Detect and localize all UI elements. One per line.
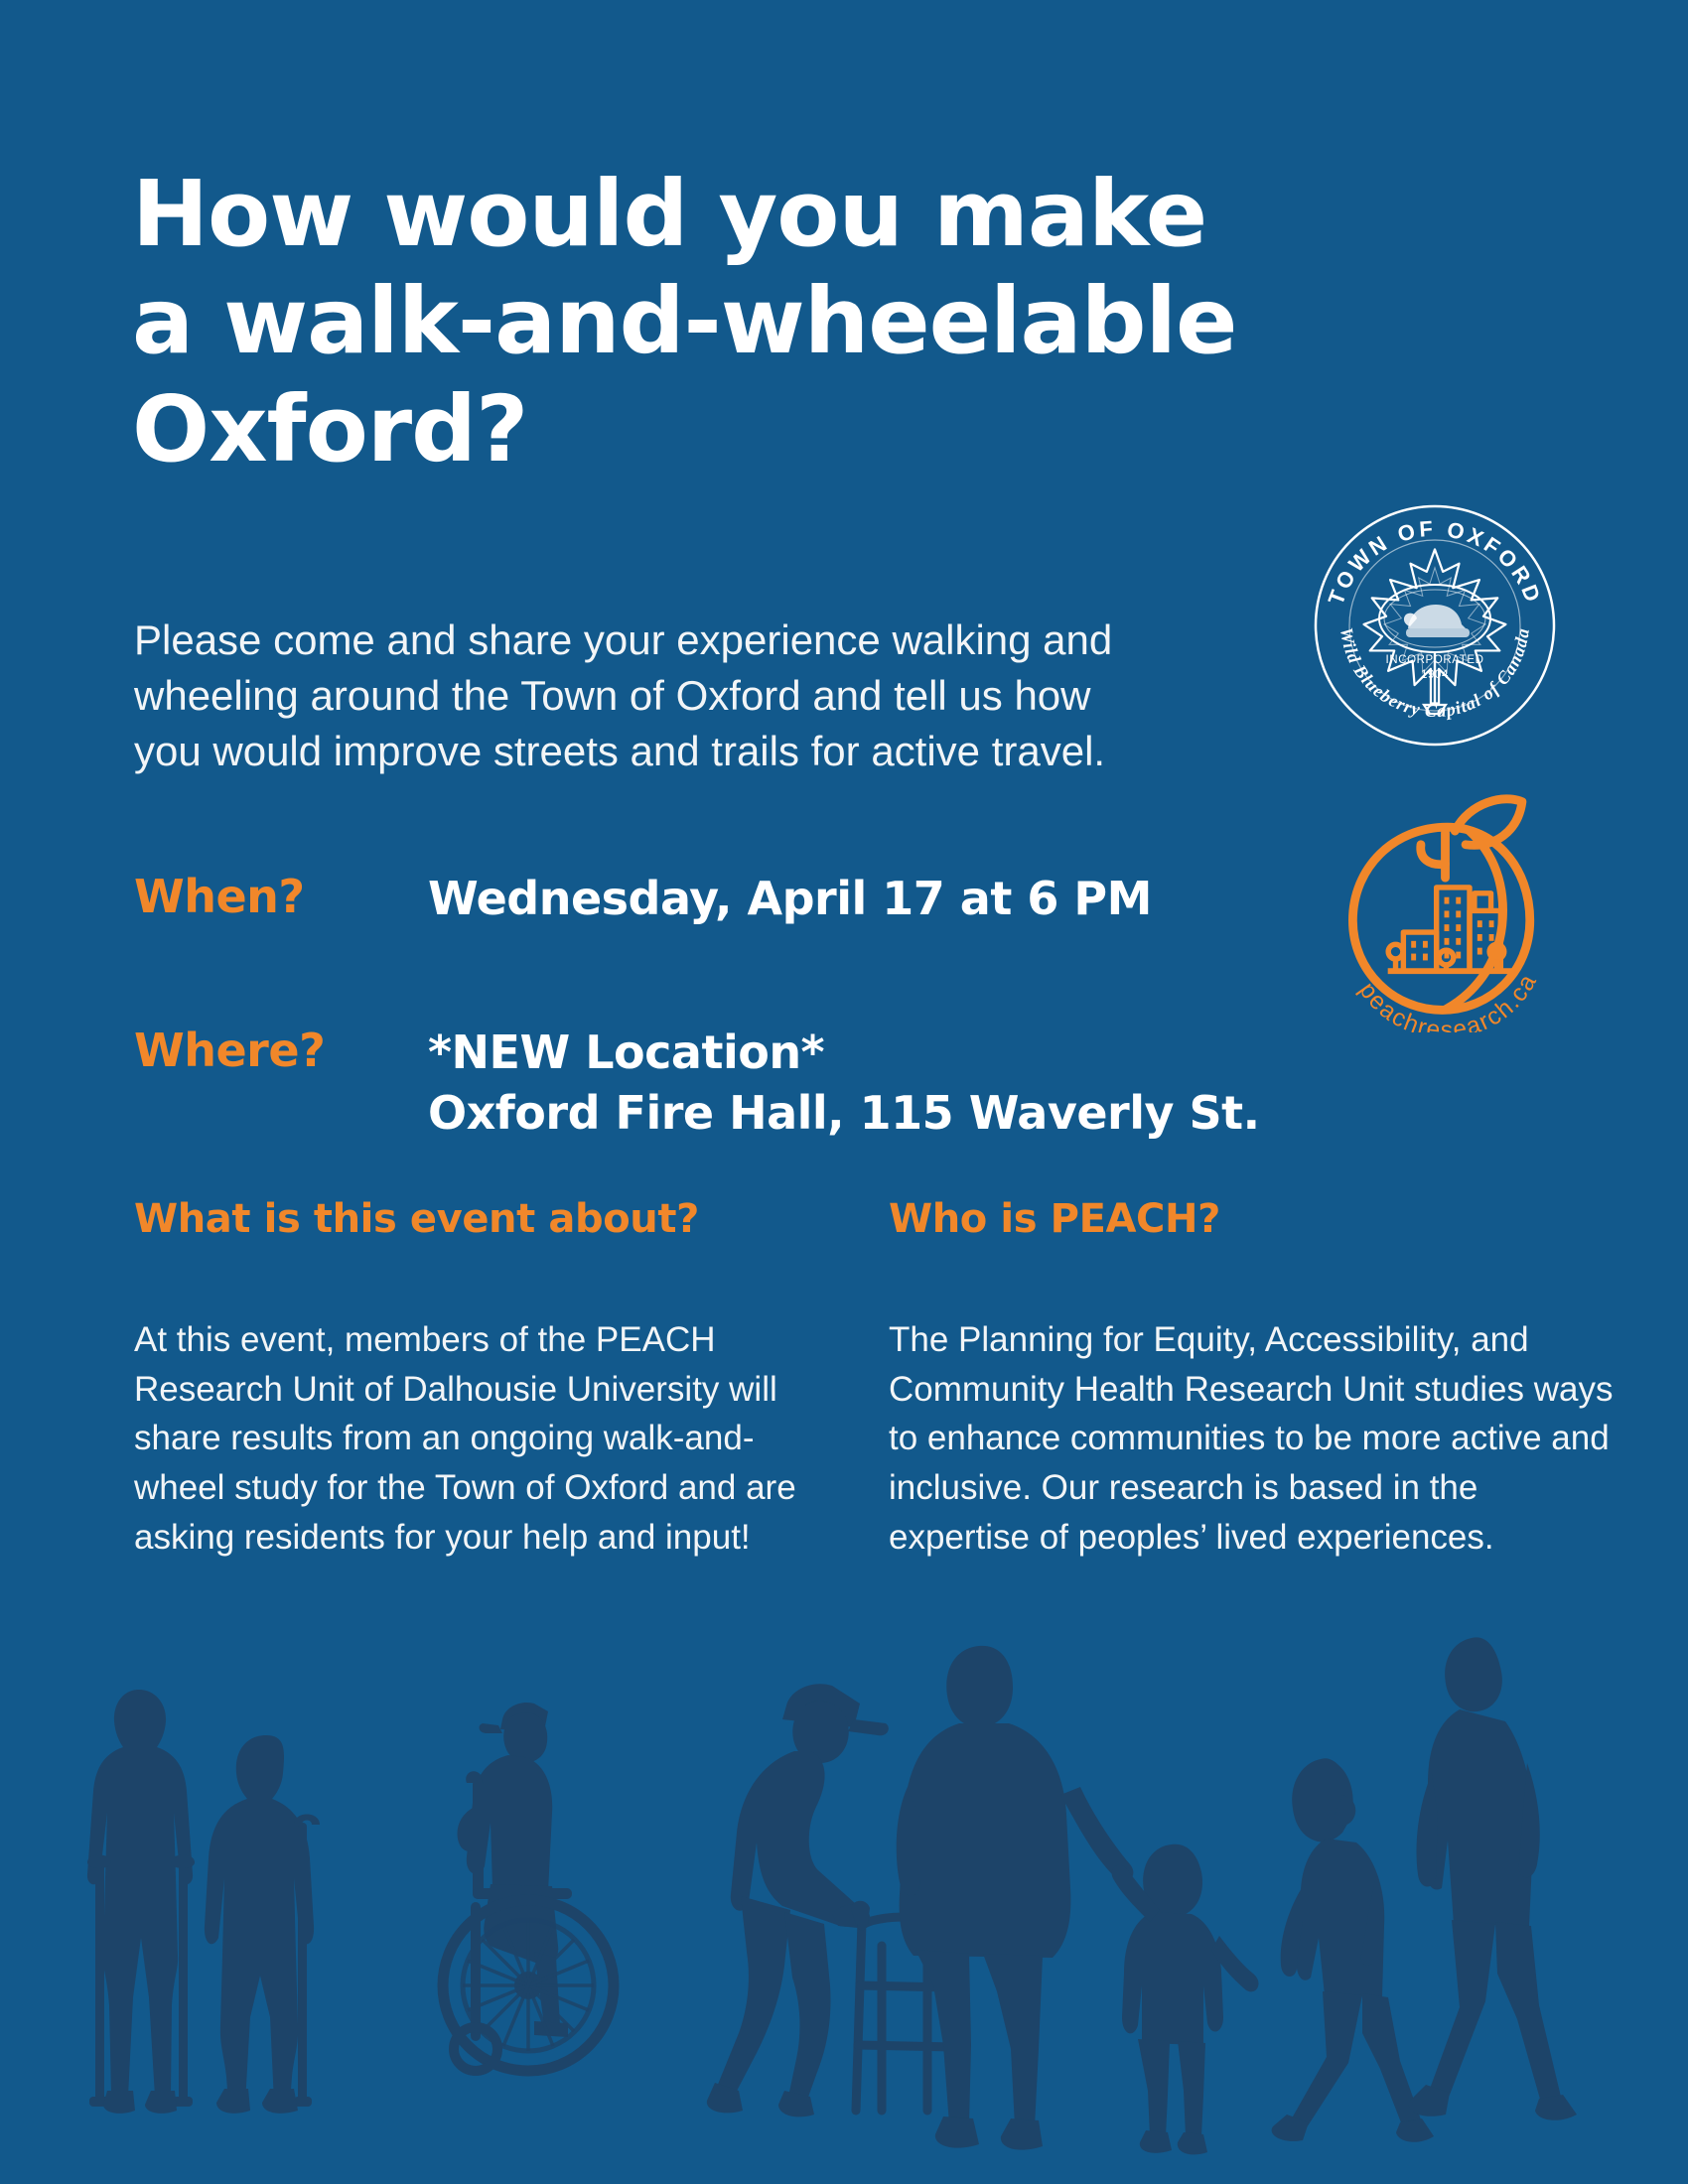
where-value: *NEW Location* Oxford Fire Hall, 115 Wav… — [428, 1023, 1276, 1144]
crest-top-arc-text: TOWN OF OXFORD — [1324, 516, 1547, 609]
intro-paragraph: Please come and share your experience wa… — [134, 613, 1137, 779]
peach-research-unit-logo: peachresearch.ca — [1324, 784, 1567, 1032]
crest-year-text: 1904 — [1421, 669, 1449, 681]
crest-incorporated-text: INCORPORATED — [1386, 654, 1484, 666]
headline-line-2: a walk-and-wheelable — [132, 268, 1204, 376]
when-row: When? Wednesday, April 17 at 6 PM — [134, 869, 1276, 929]
peach-logo-url-text: peachresearch.ca — [1353, 969, 1542, 1032]
where-label: Where? — [134, 1023, 428, 1078]
when-value: Wednesday, April 17 at 6 PM — [428, 869, 1276, 929]
where-row: Where? *NEW Location* Oxford Fire Hall, … — [134, 1023, 1276, 1144]
where-value-line-2: Oxford Fire Hall, 115 Waverly St. — [428, 1083, 1276, 1144]
column-who-is-peach: Who is PEACH? The Planning for Equity, A… — [889, 1196, 1614, 1596]
when-label: When? — [134, 869, 428, 924]
silhouette-child — [1112, 1844, 1259, 2155]
when-value-line: Wednesday, April 17 at 6 PM — [428, 869, 1276, 929]
page-title: How would you make a walk-and-wheelable … — [132, 161, 1204, 484]
where-value-line-1: *NEW Location* — [428, 1023, 1276, 1083]
silhouette-man-walking — [1409, 1637, 1577, 2119]
silhouette-adult-holding-child-hand — [897, 1646, 1259, 2155]
silhouette-person-with-crutches — [87, 1690, 195, 2114]
silhouette-person-with-cane — [205, 1735, 320, 2114]
headline-line-1: How would you make — [132, 161, 1204, 269]
who-is-peach-heading: Who is PEACH? — [889, 1196, 1614, 1242]
people-silhouettes-illustration — [0, 1628, 1688, 2184]
headline-line-3: Oxford? — [132, 376, 1204, 484]
column-about-event: What is this event about? At this event,… — [134, 1196, 809, 1596]
about-event-body: At this event, members of the PEACH Rese… — [134, 1315, 809, 1562]
silhouette-person-in-wheelchair — [443, 1703, 614, 2071]
silhouette-woman-walking — [1272, 1758, 1434, 2142]
about-event-heading: What is this event about? — [134, 1196, 809, 1242]
town-of-oxford-crest: INCORPORATED 1904 TOWN OF OXFORD Wild Bl… — [1311, 501, 1559, 750]
poster-canvas: How would you make a walk-and-wheelable … — [0, 0, 1688, 2184]
who-is-peach-body: The Planning for Equity, Accessibility, … — [889, 1315, 1614, 1562]
